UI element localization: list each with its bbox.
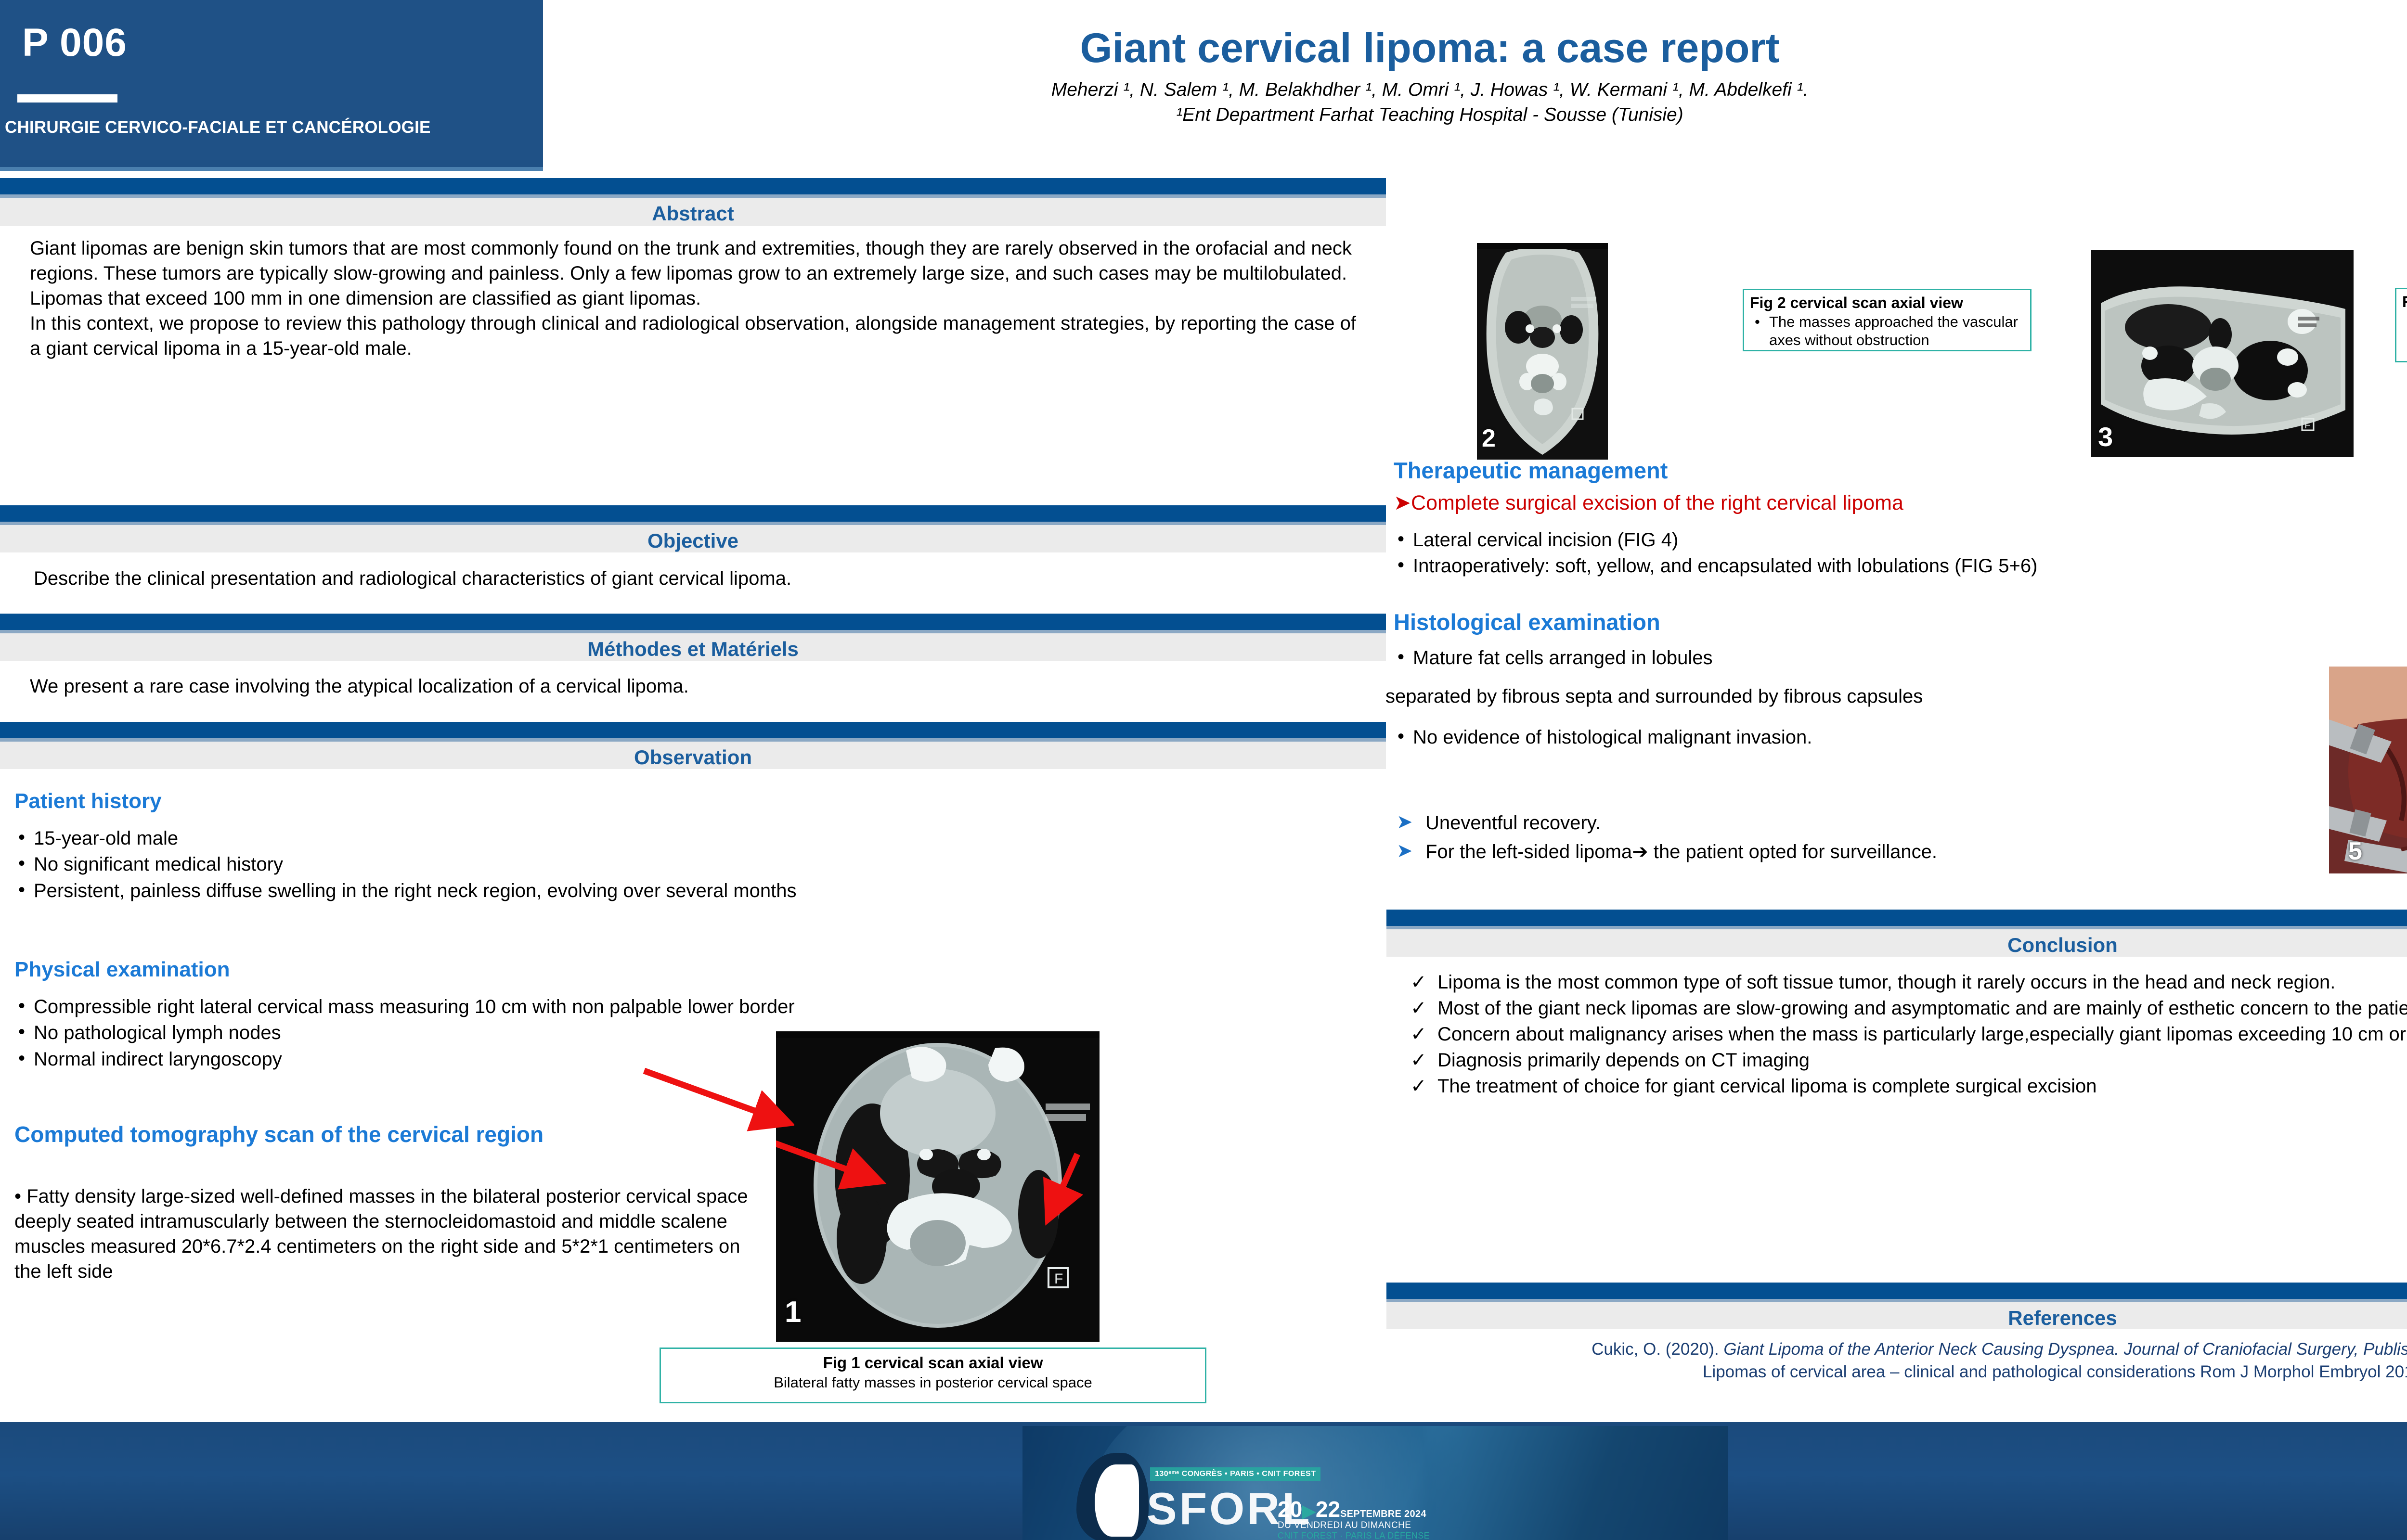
reference-item: Cukic, O. (2020). Giant Lipoma of the An… (1391, 1338, 2407, 1360)
ct-scan-axial-3: F (2091, 250, 2354, 457)
section-title-objective: Objective (0, 529, 1386, 552)
patient-history-list: 15-year-old male No significant medical … (14, 825, 1266, 904)
section-title-conclusion: Conclusion (1386, 934, 2407, 957)
congress-banner: 130ᵉᵐᵉ CONGRÈS • PARIS • CNIT FOREST SFO… (1022, 1426, 1728, 1540)
poster-canvas: P 006 CHIRURGIE CERVICO-FACIALE ET CANCÉ… (0, 0, 2407, 1540)
figure-1-title: Fig 1 cervical scan axial view (661, 1354, 1205, 1372)
congress-venue: CNIT FOREST · PARIS LA DÉFENSE (1278, 1531, 1430, 1540)
section-header-conclusion: Conclusion (1386, 910, 2407, 957)
histology-continuation: separated by fibrous septa and surrounde… (1385, 686, 2396, 707)
date-from: 20 (1278, 1497, 1302, 1522)
date-to: 22 (1316, 1497, 1340, 1522)
section-rule (0, 178, 1386, 194)
reference-list: Cukic, O. (2020). Giant Lipoma of the An… (1391, 1338, 2407, 1384)
figure-1-image: F 1 (776, 1031, 1100, 1342)
section-rule (0, 614, 1386, 630)
figure-1-subtitle: Bilateral fatty masses in posterior cerv… (661, 1374, 1205, 1391)
check-icon: ✓ (1411, 1022, 1427, 1047)
header-category: CHIRURGIE CERVICO-FACIALE ET CANCÉROLOGI… (5, 118, 534, 137)
list-item: ✓ Most of the giant neck lipomas are slo… (1406, 996, 2407, 1021)
month-year: SEPTEMBRE 2024 (1340, 1509, 1426, 1519)
section-header-objective: Objective (0, 505, 1386, 552)
figure-1-caption: Fig 1 cervical scan axial view Bilateral… (660, 1347, 1206, 1403)
ct-description: • Fatty density large-sized well-defined… (14, 1184, 765, 1284)
figure-3-title: Fig 3 cervical scan axial view (2402, 293, 2407, 311)
list-item: ➤ Uneventful recovery. (1394, 808, 2356, 837)
section-header-methods: Méthodes et Matériels (0, 614, 1386, 661)
arrow-right-icon: ➤ (1394, 491, 1411, 514)
check-icon: ✓ (1411, 996, 1427, 1021)
affiliation: ¹Ent Department Farhat Teaching Hospital… (732, 104, 2128, 126)
section-header-abstract: Abstract (0, 178, 1386, 226)
methods-text: We present a rare case involving the aty… (30, 674, 1330, 699)
section-rule (0, 722, 1386, 738)
poster-id: P 006 (22, 23, 127, 63)
list-item: ➤ For the left-sided lipoma➔ the patient… (1394, 837, 2356, 866)
figure-3-image: F 3 (2091, 250, 2354, 457)
congress-dates: 20▶22SEPTEMBRE 2024 (1278, 1496, 1426, 1522)
congress-days: DU VENDREDI AU DIMANCHE (1278, 1520, 1411, 1531)
abstract-text: Giant lipomas are benign skin tumors tha… (30, 236, 1359, 361)
title-block: Giant cervical lipoma: a case report Meh… (732, 26, 2128, 126)
chevron-right-icon: ➤ (1397, 808, 1413, 836)
section-title-observation: Observation (0, 746, 1386, 769)
header-divider-rule (17, 94, 117, 103)
section-header-references: References (1386, 1283, 2407, 1329)
section-rule (1386, 910, 2407, 926)
conclusion-text: Concern about malignancy arises when the… (1437, 1024, 2407, 1045)
subhead-physical-examination: Physical examination (14, 958, 230, 982)
list-item: No evidence of histological malignant in… (1394, 724, 2356, 750)
header-id-block: P 006 CHIRURGIE CERVICO-FACIALE ET CANCÉ… (0, 0, 543, 167)
subhead-ct-scan: Computed tomography scan of the cervical… (14, 1121, 544, 1147)
section-title-references: References (1386, 1307, 2407, 1330)
outcome-text: For the left-sided lipoma➔ the patient o… (1425, 841, 1937, 862)
list-item: ✓ Lipoma is the most common type of soft… (1406, 970, 2407, 995)
list-item: ✓ Concern about malignancy arises when t… (1406, 1022, 2407, 1047)
reference-author: Cukic, O. (2020). (1592, 1340, 1723, 1359)
list-item: Persistent, painless diffuse swelling in… (14, 878, 1266, 904)
ct-scan-axial-2 (1477, 243, 1608, 460)
subhead-histological-examination: Histological examination (1394, 609, 1660, 635)
list-item: ✓ The treatment of choice for giant cerv… (1406, 1074, 2407, 1099)
conclusion-list: ✓ Lipoma is the most common type of soft… (1406, 970, 2407, 1100)
page-title: Giant cervical lipoma: a case report (732, 26, 2128, 70)
figure-2-image: 2 (1477, 243, 1608, 460)
list-item: Lateral cervical incision (FIG 4) (1394, 527, 2356, 553)
list-item: ✓ Diagnosis primarily depends on CT imag… (1406, 1048, 2407, 1073)
histology-bullet-2-wrap: No evidence of histological malignant in… (1394, 724, 2356, 750)
subhead-therapeutic-management: Therapeutic management (1394, 457, 1668, 484)
author-list: Meherzi ¹, N. Salem ¹, M. Belakhdher ¹, … (732, 79, 2128, 101)
triangle-right-icon: ▶ (1302, 1501, 1316, 1521)
objective-text: Describe the clinical presentation and r… (34, 566, 1333, 591)
check-icon: ✓ (1411, 970, 1427, 995)
chevron-right-icon: ➤ (1397, 836, 1413, 865)
outcome-list: ➤ Uneventful recovery. ➤ For the left-si… (1394, 808, 2356, 866)
annotation-arrows-fig1 (776, 1031, 1100, 1342)
check-icon: ✓ (1411, 1048, 1427, 1073)
figure-3-number: 3 (2098, 421, 2113, 452)
therapeutic-highlight-text: Complete surgical excision of the right … (1411, 491, 1903, 514)
section-header-observation: Observation (0, 722, 1386, 769)
figure-2-title: Fig 2 cervical scan axial view (1750, 294, 2025, 312)
annotation-arrow-left-fig1 (640, 1066, 794, 1153)
section-rule (1386, 1283, 2407, 1299)
conclusion-text: The treatment of choice for giant cervic… (1437, 1076, 2097, 1097)
list-item: No significant medical history (14, 851, 1266, 877)
conclusion-text: Diagnosis primarily depends on CT imagin… (1437, 1050, 1810, 1071)
conclusion-text: Lipoma is the most common type of soft t… (1437, 972, 2335, 993)
banner-face-profile (1095, 1464, 1139, 1537)
reference-item: Lipomas of cervical area – clinical and … (1391, 1360, 2407, 1383)
therapeutic-bullets: Lateral cervical incision (FIG 4) Intrao… (1394, 527, 2356, 579)
svg-text:F: F (2304, 420, 2310, 431)
list-item: Compressible right lateral cervical mass… (14, 994, 1276, 1020)
figure-3-bullet: Right paratracheal extension in the midd… (2402, 312, 2407, 348)
figure-3-caption: Fig 3 cervical scan axial view Right par… (2395, 288, 2407, 362)
outcome-text: Uneventful recovery. (1425, 812, 1601, 834)
figure-2-caption: Fig 2 cervical scan axial view The masse… (1743, 289, 2032, 351)
figure-2-number: 2 (1482, 424, 1496, 453)
section-title-methods: Méthodes et Matériels (0, 638, 1386, 661)
check-icon: ✓ (1411, 1074, 1427, 1099)
section-rule (0, 505, 1386, 522)
congress-tag: 130ᵉᵐᵉ CONGRÈS • PARIS • CNIT FOREST (1150, 1467, 1320, 1481)
conclusion-text: Most of the giant neck lipomas are slow-… (1437, 998, 2407, 1019)
section-title-abstract: Abstract (0, 202, 1386, 225)
subhead-patient-history: Patient history (14, 789, 162, 813)
list-item: Intraoperatively: soft, yellow, and enca… (1394, 553, 2356, 579)
therapeutic-highlight: ➤Complete surgical excision of the right… (1394, 491, 1903, 515)
list-item: 15-year-old male (14, 825, 1266, 851)
figure-2-bullet: The masses approached the vascular axes … (1750, 313, 2025, 349)
reference-title: Giant Lipoma of the Anterior Neck Causin… (1723, 1340, 2407, 1359)
histology-bullet-1-wrap: Mature fat cells arranged in lobules (1394, 645, 2356, 671)
list-item: Mature fat cells arranged in lobules (1394, 645, 2356, 671)
